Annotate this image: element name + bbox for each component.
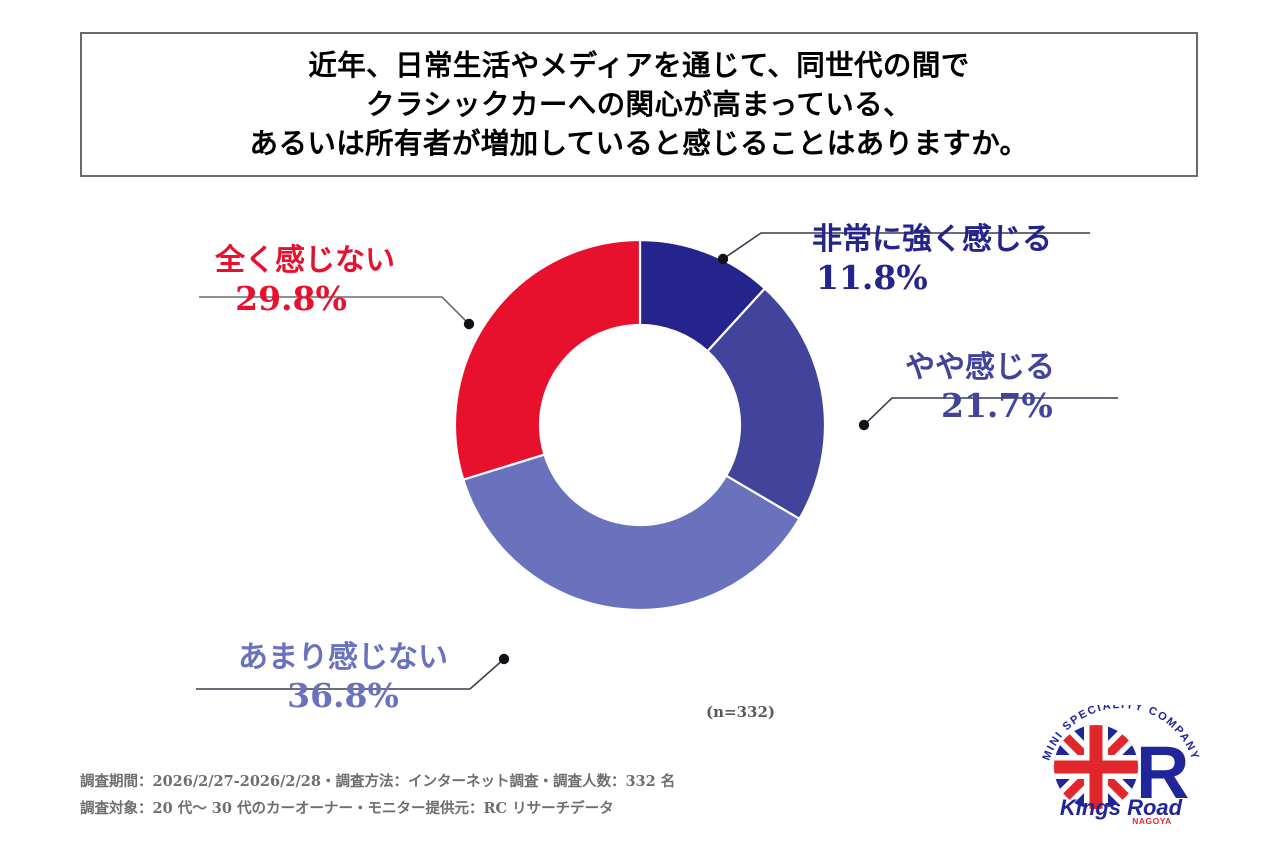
kings-road-logo: MINI SPECIALITY COMPANY R Kings Road NAG… [1030,705,1212,825]
question-title-line-2: クラシックカーへの関心が高まっている、 [366,85,912,124]
leader-dot-not-much [499,654,509,664]
callout-very-strong-label: 非常に強く感じる [812,222,1052,258]
survey-result-slide: 近年、日常生活やメディアを通じて、同世代の間で クラシックカーへの関心が高まって… [0,0,1280,853]
callout-not-much: あまり感じない 36.8% [238,640,448,716]
callout-not-much-value: 36.8% [238,676,448,716]
donut-chart [440,225,840,625]
callout-somewhat: やや感じる 21.7% [905,350,1055,426]
footnote-line-2: 調査対象：20 代～ 30 代のカーオーナー・モニター提供元：RC リサーチデー… [80,795,675,822]
sample-size-label: (n=332) [706,703,775,721]
callout-not-at-all-value: 29.8% [215,279,395,319]
question-title-box: 近年、日常生活やメディアを通じて、同世代の間で クラシックカーへの関心が高まって… [80,32,1198,177]
callout-somewhat-value: 21.7% [941,386,1055,426]
leader-dot-somewhat [859,420,869,430]
footnotes: 調査期間：2026/2/27-2026/2/28・調査方法：インターネット調査・… [80,768,675,822]
question-title-line-1: 近年、日常生活やメディアを通じて、同世代の間で [308,46,969,85]
callout-very-strong-value: 11.8% [816,258,1052,298]
donut-slice-group [455,240,825,610]
callout-not-much-label: あまり感じない [238,640,448,676]
callout-not-at-all: 全く感じない 29.8% [215,243,395,319]
question-title-line-3: あるいは所有者が増加していると感じることはありますか。 [250,124,1029,163]
logo-sub-text: NAGOYA [1132,816,1172,825]
callout-somewhat-label: やや感じる [905,350,1055,386]
callout-very-strong: 非常に強く感じる 11.8% [812,222,1052,298]
footnote-line-1: 調査期間：2026/2/27-2026/2/28・調査方法：インターネット調査・… [80,768,675,795]
donut-slice-4 [455,240,640,480]
callout-not-at-all-label: 全く感じない [215,243,395,279]
